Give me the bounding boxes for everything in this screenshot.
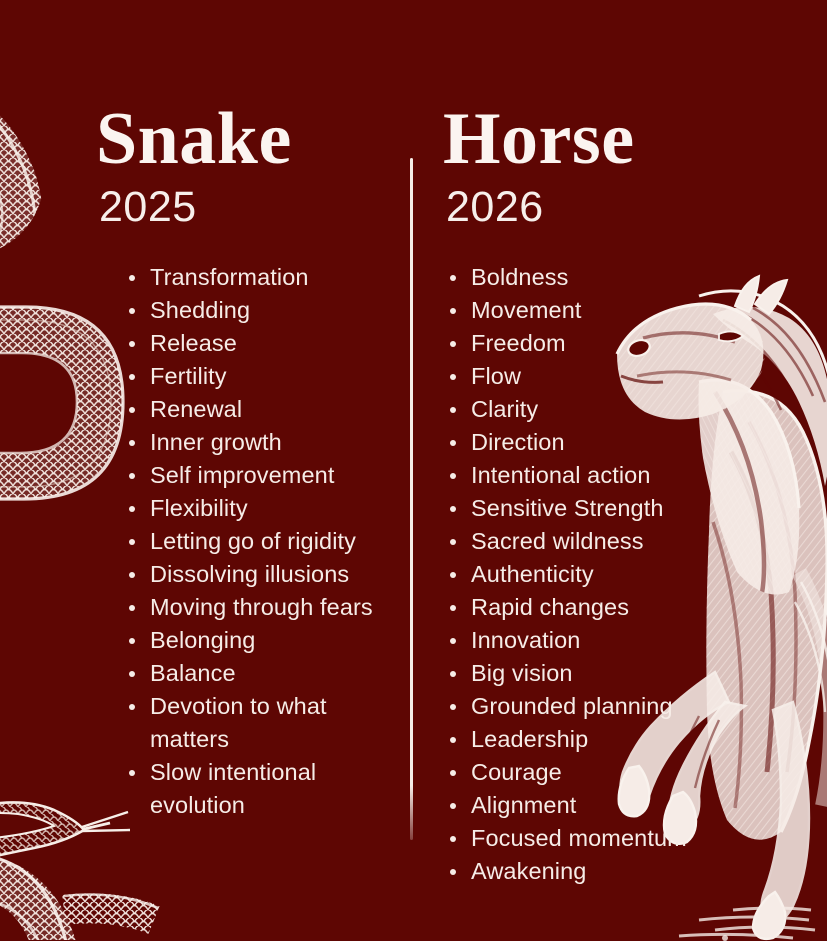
ground-strokes [679, 908, 815, 941]
list-item: Balance [150, 657, 396, 690]
list-item: Inner growth [150, 426, 396, 459]
list-item: Shedding [150, 294, 396, 327]
list-item: Moving through fears [150, 591, 396, 624]
horse-ear [755, 280, 787, 314]
list-item: Freedom [471, 327, 743, 360]
snake-head-and-coil [0, 802, 158, 940]
list-item: Letting go of rigidity [150, 525, 396, 558]
horse-trait-list: Boldness Movement Freedom Flow Clarity D… [443, 261, 743, 888]
list-item: Transformation [150, 261, 396, 294]
list-item: Release [150, 327, 396, 360]
list-item: Belonging [150, 624, 396, 657]
zodiac-comparison-poster: Snake 2025 Transformation Shedding Relea… [0, 0, 827, 941]
list-item: Dissolving illusions [150, 558, 396, 591]
snake-coil-top [0, 75, 35, 320]
list-item: Movement [471, 294, 743, 327]
horse-hoof [753, 892, 785, 939]
horse-title: Horse [443, 104, 743, 175]
snake-trait-list: Transformation Shedding Release Fertilit… [96, 261, 396, 822]
list-item: Alignment [471, 789, 743, 822]
list-item: Grounded planning [471, 690, 743, 723]
list-item: Flexibility [150, 492, 396, 525]
list-item: Innovation [471, 624, 743, 657]
list-item: Rapid changes [471, 591, 743, 624]
list-item: Sacred wildness [471, 525, 743, 558]
horse-hind-leg [753, 572, 827, 939]
list-item: Intentional action [471, 459, 743, 492]
list-item: Courage [471, 756, 743, 789]
list-item: Leadership [471, 723, 743, 756]
snake-title: Snake [96, 104, 396, 175]
horse-year: 2026 [446, 186, 743, 229]
list-item: Direction [471, 426, 743, 459]
list-item: Renewal [150, 393, 396, 426]
list-item: Clarity [471, 393, 743, 426]
list-item: Devotion to what matters [150, 690, 396, 756]
snake-year: 2025 [99, 186, 396, 229]
list-item: Authenticity [471, 558, 743, 591]
list-item: Sensitive Strength [471, 492, 743, 525]
vertical-divider [410, 158, 413, 840]
list-item: Big vision [471, 657, 743, 690]
list-item: Self improvement [150, 459, 396, 492]
horse-tail [799, 572, 827, 806]
list-item: Awakening [471, 855, 743, 888]
snake-column: Snake 2025 Transformation Shedding Relea… [96, 104, 396, 822]
horse-column: Horse 2026 Boldness Movement Freedom Flo… [443, 104, 743, 888]
list-item: Fertility [150, 360, 396, 393]
list-item: Boldness [471, 261, 743, 294]
list-item: Focused momentum [471, 822, 743, 855]
list-item: Flow [471, 360, 743, 393]
list-item: Slow intentional evolution [150, 756, 396, 822]
